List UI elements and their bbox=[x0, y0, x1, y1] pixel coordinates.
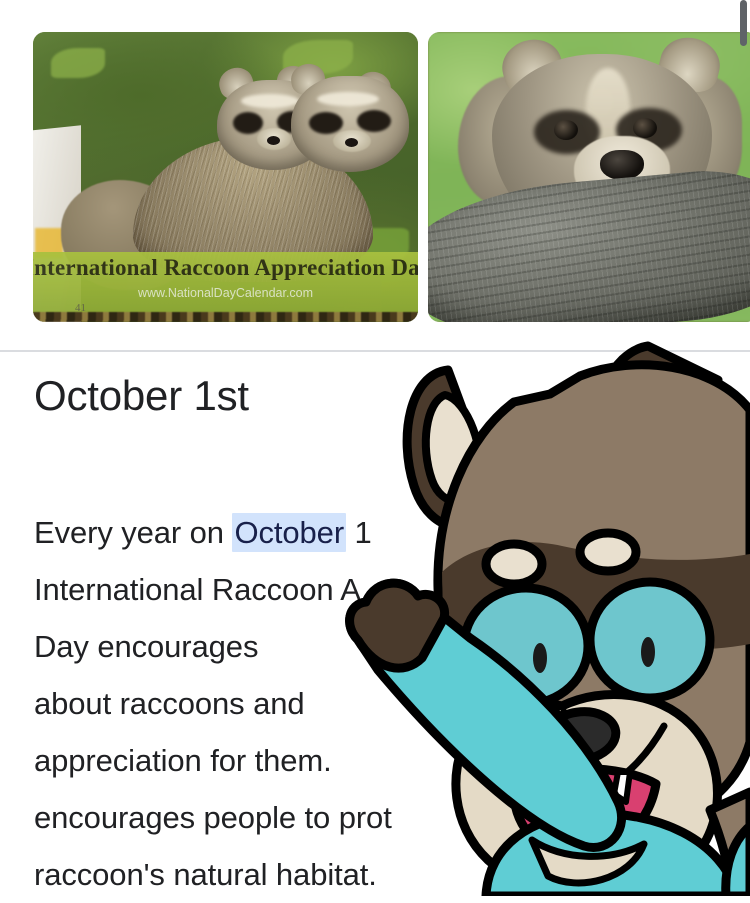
photo1-raccoon-nose bbox=[267, 136, 280, 145]
page-root: International Raccoon Appreciation Day w… bbox=[0, 0, 750, 896]
raccoons-in-brush-photo: International Raccoon Appreciation Day w… bbox=[33, 32, 418, 322]
photo1-raccoon-forehead-stripe bbox=[241, 94, 299, 108]
body-line-1-pre: Every year on bbox=[34, 515, 232, 550]
raccoon-on-branch-photo bbox=[428, 32, 750, 322]
photo1-corner-number: 41 bbox=[75, 302, 86, 314]
vertical-scrollbar-thumb[interactable] bbox=[740, 0, 747, 46]
photo2-raccoon-nose bbox=[600, 150, 644, 180]
body-line-4: about raccoons and bbox=[34, 686, 305, 721]
photo1-bottom-brush bbox=[33, 312, 418, 322]
body-line-1-post: 1 bbox=[346, 515, 372, 550]
page-title: October 1st bbox=[34, 372, 249, 420]
photo1-leaf bbox=[51, 48, 105, 78]
photo1-caption-bar: International Raccoon Appreciation Day w… bbox=[33, 252, 418, 314]
body-line-2: International Raccoon A bbox=[34, 572, 361, 607]
image-results-strip: International Raccoon Appreciation Day w… bbox=[0, 0, 750, 340]
photo1-raccoon-eye-mask bbox=[233, 112, 263, 134]
photo1-raccoon-forehead-stripe bbox=[317, 92, 379, 106]
photo1-raccoon-nose bbox=[345, 138, 358, 147]
image-thumbnail-2[interactable] bbox=[428, 32, 750, 322]
photo1-raccoon-eye-mask bbox=[309, 112, 343, 134]
photo2-raccoon-eye-left bbox=[554, 120, 578, 140]
photo2-raccoon-eye-right bbox=[633, 118, 657, 138]
photo1-caption-url: www.NationalDayCalendar.com bbox=[33, 286, 418, 300]
image-thumbnail-1[interactable]: International Raccoon Appreciation Day w… bbox=[33, 32, 418, 322]
selected-text-highlight[interactable]: October bbox=[232, 513, 346, 552]
photo1-caption-title: International Raccoon Appreciation Day bbox=[33, 255, 418, 281]
photo1-raccoon-eye-mask bbox=[357, 110, 391, 132]
body-line-6: encourages people to prot bbox=[34, 800, 392, 835]
body-line-5: appreciation for them. bbox=[34, 743, 349, 778]
section-divider bbox=[0, 350, 750, 352]
body-line-3: Day encourages bbox=[34, 629, 267, 664]
body-line-7: raccoon's natural habitat. bbox=[34, 857, 377, 892]
article-body[interactable]: Every year on October 1 International Ra… bbox=[34, 504, 734, 903]
vertical-scrollbar-track[interactable] bbox=[740, 0, 750, 896]
